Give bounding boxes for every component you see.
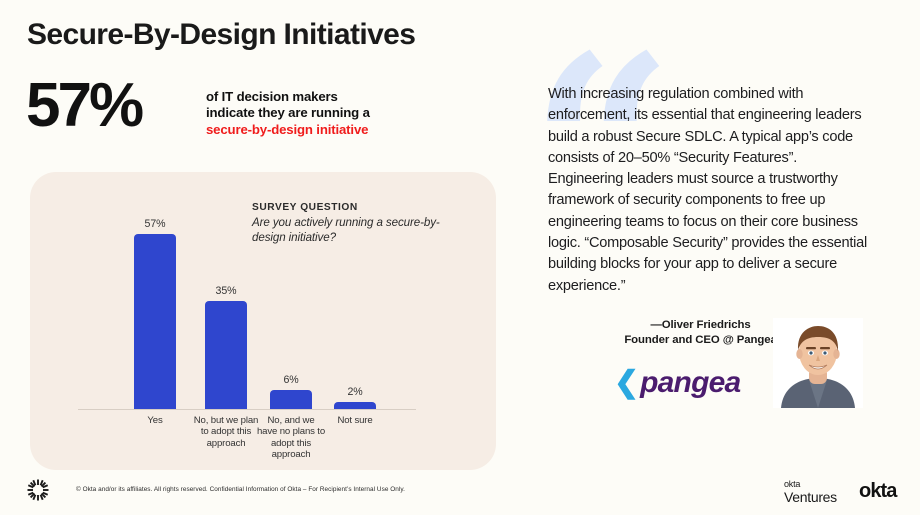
bar-group[interactable]: 35%No, but we plan to adopt this approac…	[205, 301, 247, 408]
footer-legal-text: © Okta and/or its affiliates. All rights…	[76, 486, 405, 493]
hero-stat-number: 57%	[26, 75, 141, 137]
chart-baseline-axis	[78, 409, 416, 410]
bar[interactable]	[205, 301, 247, 408]
bar-category-label: Not sure	[321, 415, 389, 427]
survey-eyebrow-label: SURVEY QUESTION	[252, 202, 467, 213]
bar-value-label: 57%	[134, 218, 176, 230]
pangea-wordmark: pangea	[640, 368, 740, 398]
page-title: Secure-By-Design Initiatives	[27, 18, 415, 52]
bar-group[interactable]: 2%Not sure	[334, 402, 376, 408]
hero-stat-description: of IT decision makers indicate they are …	[206, 89, 370, 138]
pangea-logo: ❮ pangea	[614, 368, 740, 398]
okta-ventures-logo-bottom: Ventures	[784, 490, 837, 504]
bar-value-label: 35%	[205, 285, 247, 297]
bar-category-label: Yes	[121, 415, 189, 427]
bar[interactable]	[270, 390, 312, 408]
okta-logo: okta	[859, 481, 897, 501]
quote-column: “ With increasing regulation combined wi…	[548, 84, 878, 424]
hero-line-2: indicate they are running a	[206, 105, 370, 121]
sunburst-glyph	[26, 478, 50, 502]
quote-body-text: With increasing regulation combined with…	[548, 84, 868, 297]
pangea-chevron-icon: ❮	[614, 368, 639, 398]
hero-line-3-accent: secure-by-design initiative	[206, 122, 370, 138]
hero-line-1: of IT decision makers	[206, 89, 370, 105]
headshot-illustration	[773, 318, 863, 408]
bar[interactable]	[334, 402, 376, 408]
bar-category-label: No, but we plan to adopt this approach	[192, 415, 260, 450]
bar[interactable]	[134, 234, 176, 409]
slide-canvas: Secure-By-Design Initiatives 57% of IT d…	[0, 0, 920, 515]
bar-group[interactable]: 57%Yes	[134, 234, 176, 409]
bar-category-label: No, and we have no plans to adopt this a…	[257, 415, 325, 461]
okta-sunburst-icon	[26, 478, 50, 502]
okta-ventures-logo: okta Ventures	[784, 480, 837, 504]
bar-group[interactable]: 6%No, and we have no plans to adopt this…	[270, 390, 312, 408]
okta-ventures-logo-top: okta	[784, 480, 837, 489]
bar-chart: 57%Yes35%No, but we plan to adopt this a…	[72, 220, 472, 410]
bar-value-label: 6%	[270, 374, 312, 386]
bar-value-label: 2%	[334, 386, 376, 398]
hero-stat: 57% of IT decision makers indicate they …	[26, 85, 496, 147]
survey-chart-card: SURVEY QUESTION Are you actively running…	[30, 172, 496, 470]
avatar-oliver-friedrichs	[773, 318, 863, 408]
